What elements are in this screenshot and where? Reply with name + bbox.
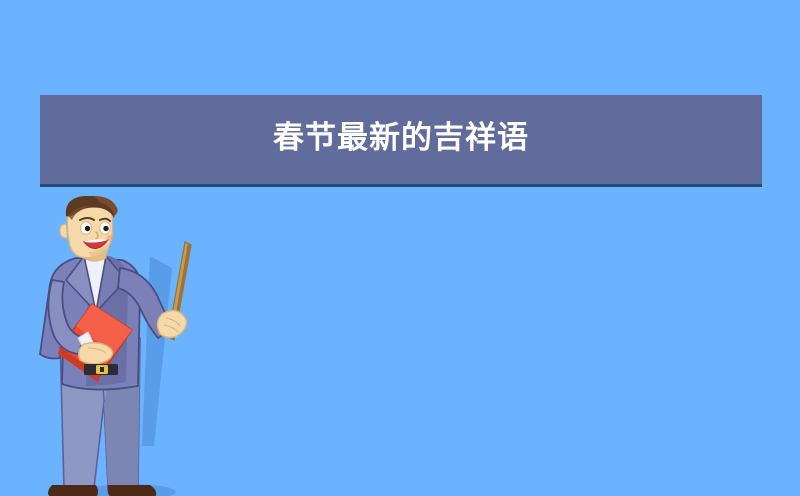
title-banner: 春节最新的吉祥语 (40, 95, 762, 184)
teacher-illustration (22, 196, 222, 496)
page-title: 春节最新的吉祥语 (273, 123, 529, 156)
belt (84, 364, 118, 375)
pointer-hand (157, 310, 186, 337)
folder-hand (79, 343, 113, 364)
head (60, 196, 118, 260)
slide-canvas: 春节最新的吉祥语 (0, 0, 800, 496)
